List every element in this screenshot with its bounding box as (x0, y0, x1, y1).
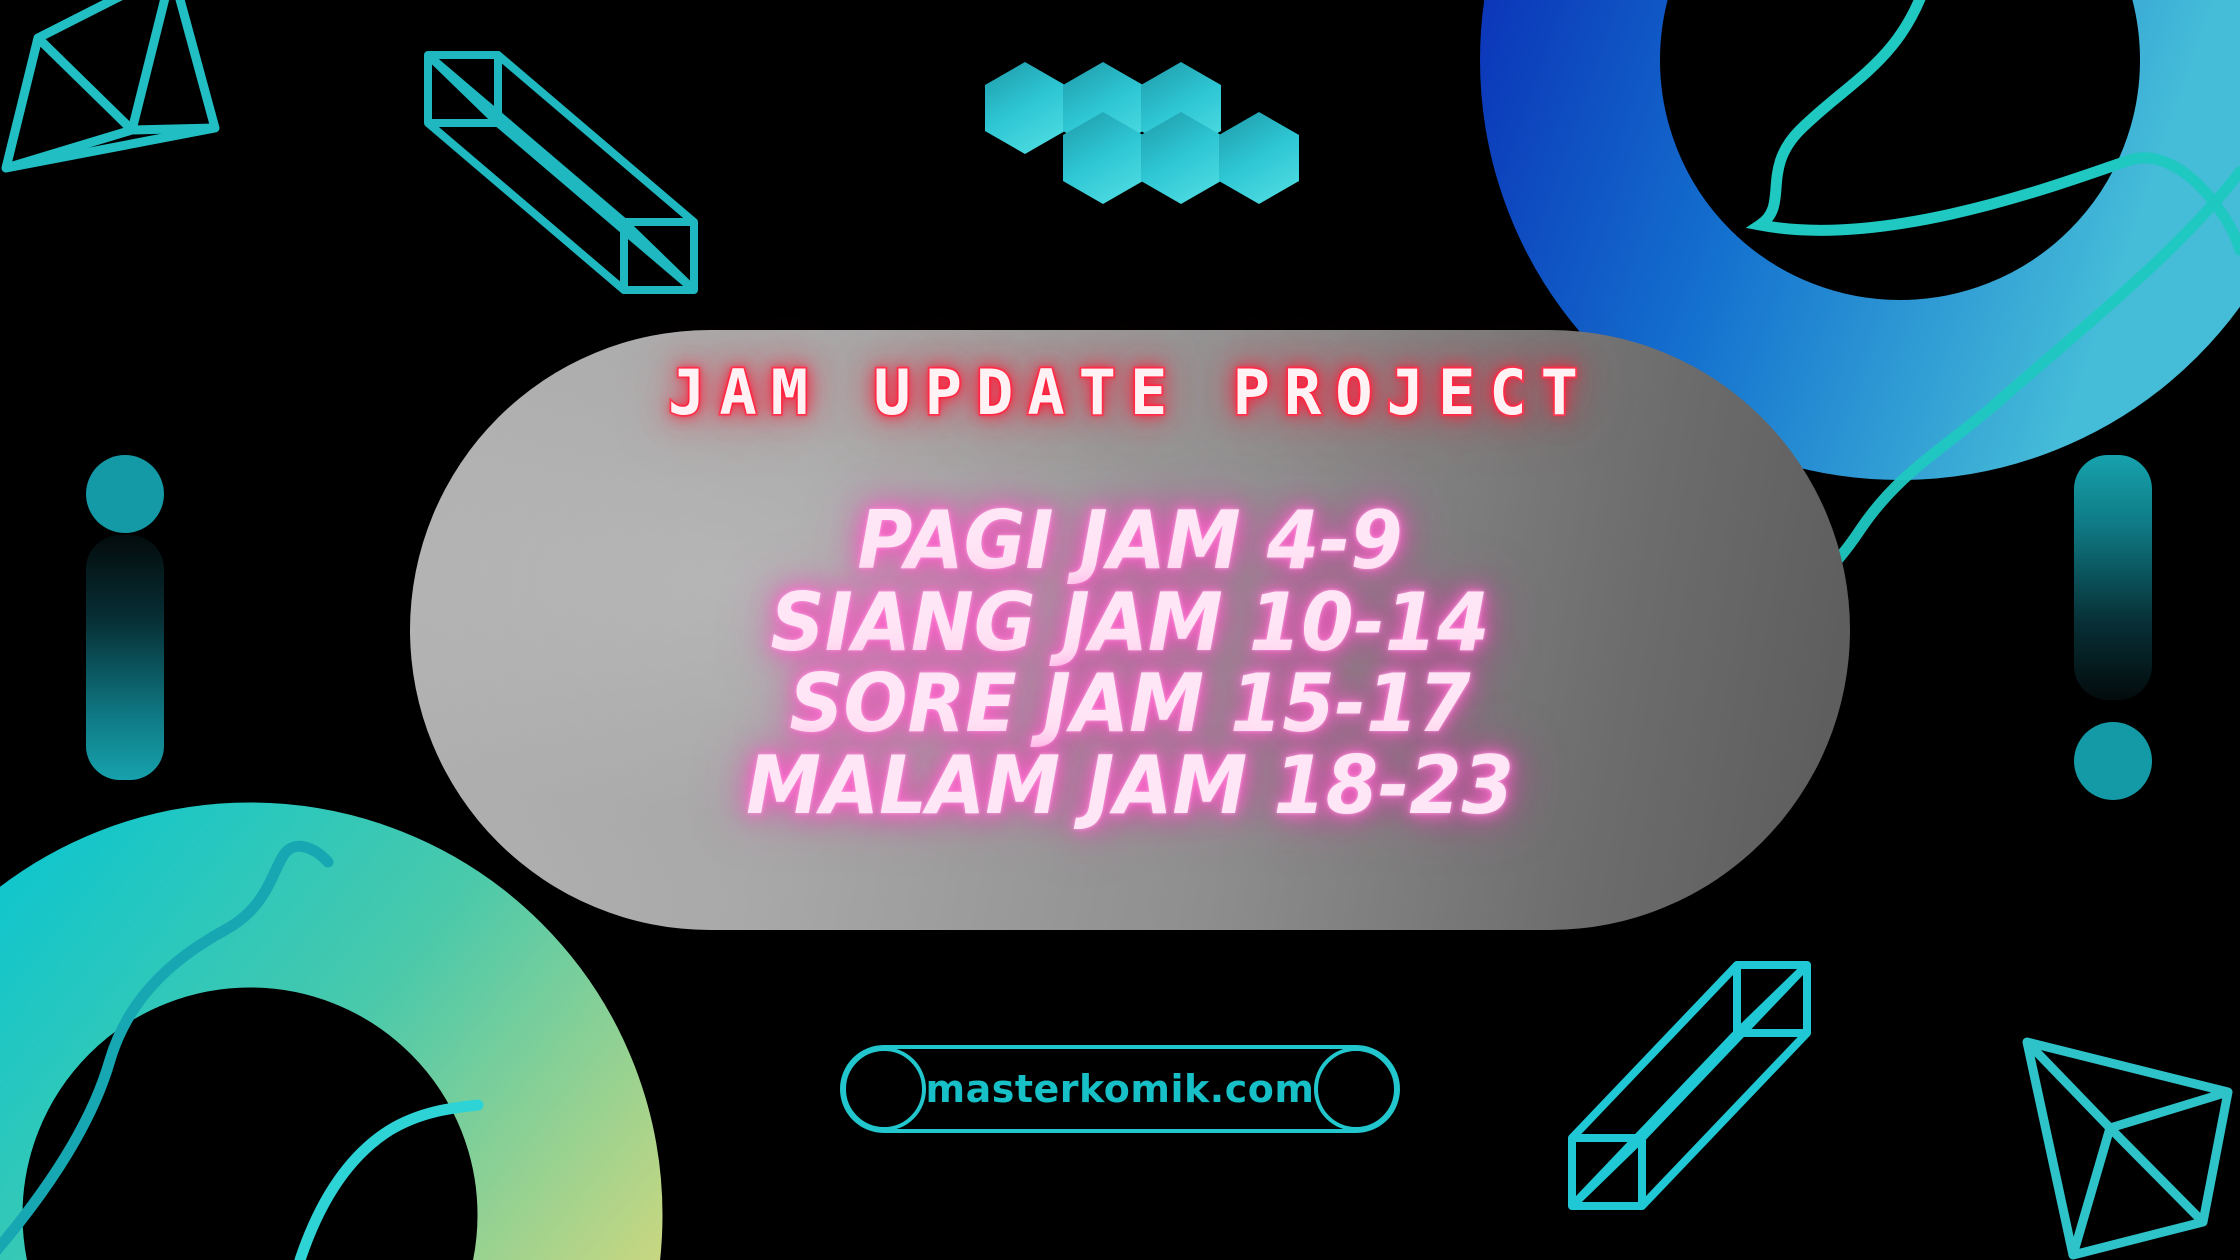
schedule-list: PAGI JAM 4-9 SIANG JAM 10-14 SORE JAM 15… (410, 500, 1850, 826)
wireframe-beam-bottom-right (1572, 965, 1807, 1206)
cyan-squiggle-top-right (1760, 0, 2240, 250)
vertical-bar-icon (2074, 455, 2152, 700)
wireframe-tetrahedron-top-left (6, 0, 215, 168)
hexagon-icon (985, 62, 1065, 154)
hexagon-icon (1219, 112, 1299, 204)
schedule-item: SORE JAM 15-17 (453, 663, 1807, 745)
page-title-text: JAM UPDATE PROJECT (668, 362, 1592, 424)
wireframe-tetrahedron-bottom-right (2027, 1042, 2228, 1255)
wireframe-beam-top-left (428, 55, 694, 290)
schedule-item: MALAM JAM 18-23 (453, 745, 1807, 827)
poster-canvas: JAM UPDATE PROJECT PAGI JAM 4-9 SIANG JA… (0, 0, 2240, 1260)
circle-dot-icon (2074, 722, 2152, 800)
circle-dot-icon (86, 455, 164, 533)
cyan-squiggle-bottom-left (0, 846, 328, 1258)
schedule-item: SIANG JAM 10-14 (453, 582, 1807, 664)
vertical-bar-icon (86, 535, 164, 780)
green-gradient-ring-bottom-left (0, 895, 570, 1260)
cyan-squiggle-bottom-left-inner (300, 1105, 478, 1260)
page-title: JAM UPDATE PROJECT (410, 362, 1850, 424)
schedule-item: PAGI JAM 4-9 (453, 500, 1807, 582)
website-badge[interactable]: masterkomik.com (840, 1045, 1400, 1133)
website-url-text: masterkomik.com (840, 1045, 1400, 1133)
